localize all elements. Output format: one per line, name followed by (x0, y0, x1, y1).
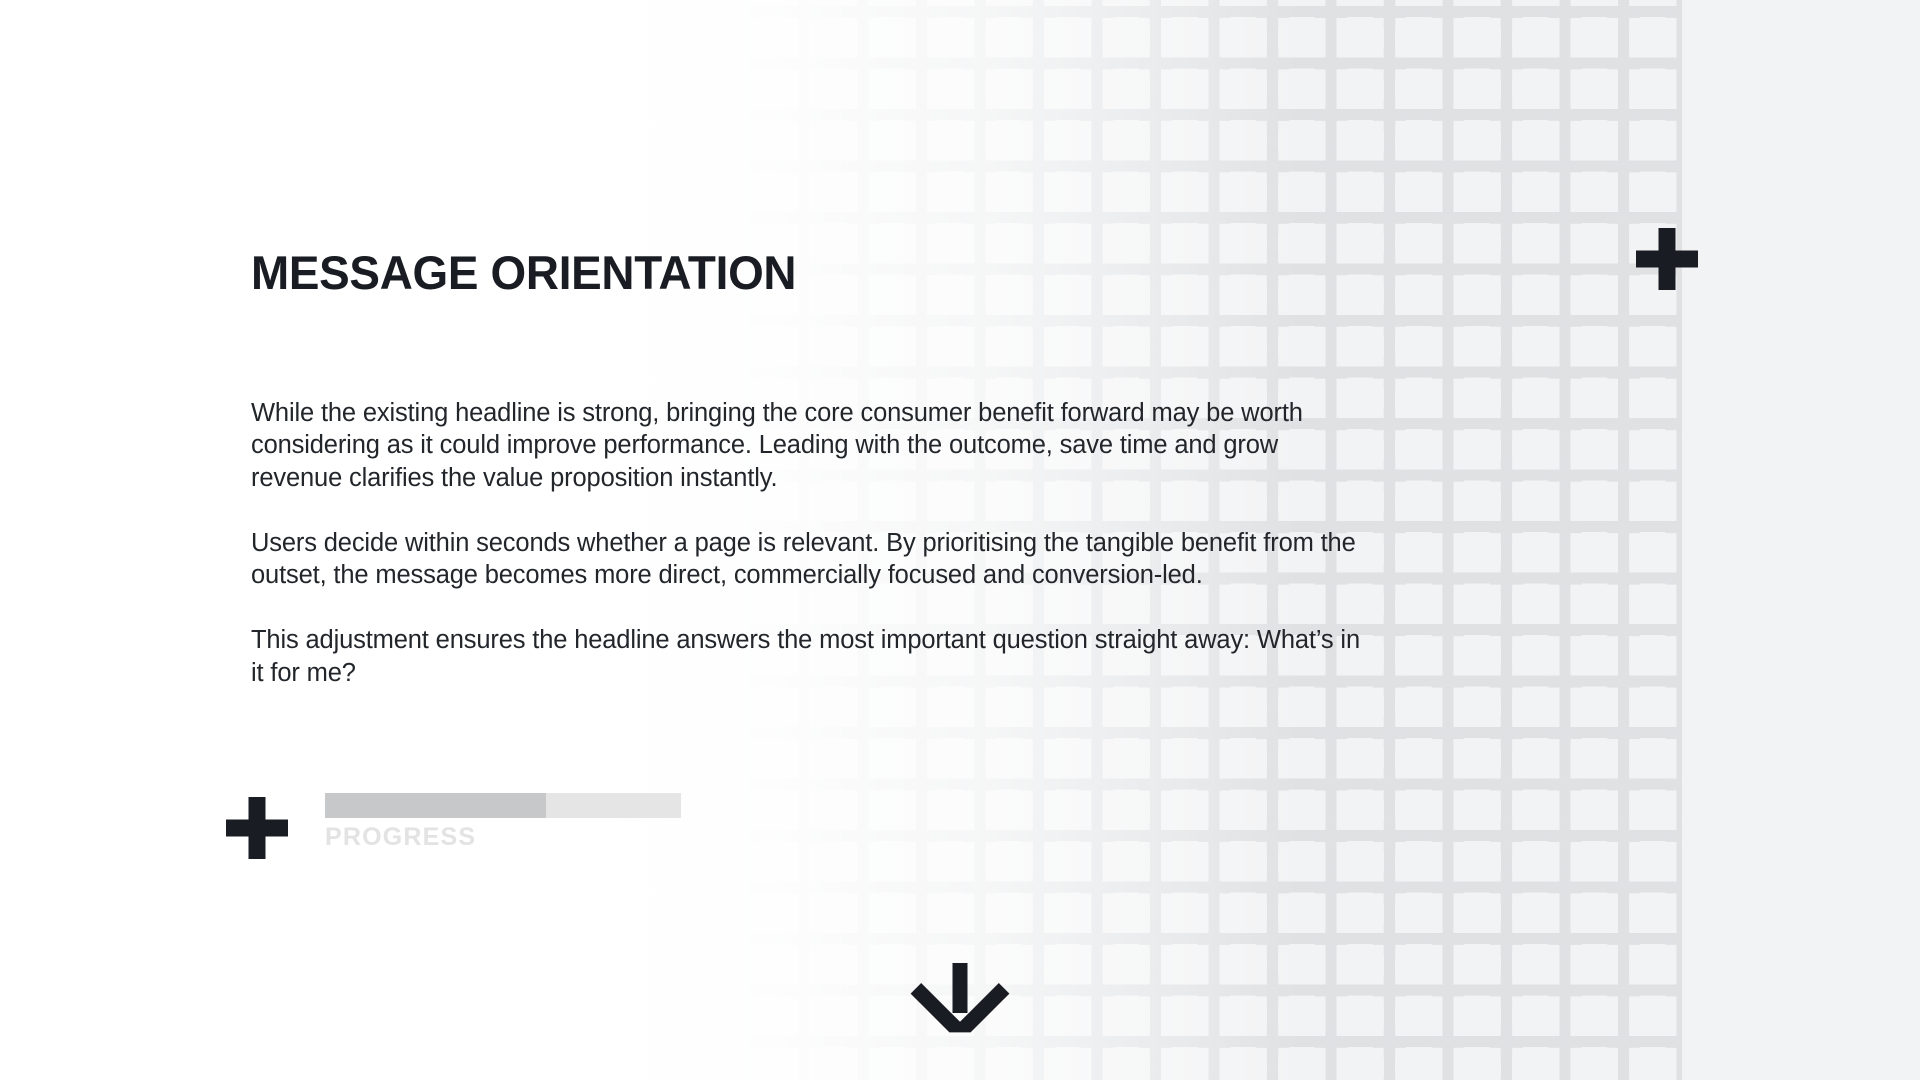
plus-icon (226, 797, 288, 859)
slide-canvas: MESSAGE ORIENTATION While the existing h… (0, 0, 1920, 1080)
progress-meta: PROGRESS (325, 793, 691, 851)
paragraph-2: Users decide within seconds whether a pa… (251, 527, 1361, 592)
body-copy: While the existing headline is strong, b… (251, 397, 1361, 689)
progress-bar-fill (325, 793, 546, 818)
plus-icon-vertical-bar (249, 797, 266, 859)
plus-icon (1636, 228, 1698, 290)
arrow-down-icon[interactable] (910, 963, 1010, 1035)
page-title: MESSAGE ORIENTATION (251, 249, 796, 296)
progress-block: PROGRESS (226, 793, 696, 873)
progress-bar-track[interactable] (325, 793, 681, 818)
progress-label: PROGRESS (325, 823, 691, 851)
paragraph-3: This adjustment ensures the headline ans… (251, 624, 1361, 689)
plus-icon-vertical-bar (1659, 228, 1676, 290)
paragraph-1: While the existing headline is strong, b… (251, 397, 1361, 494)
